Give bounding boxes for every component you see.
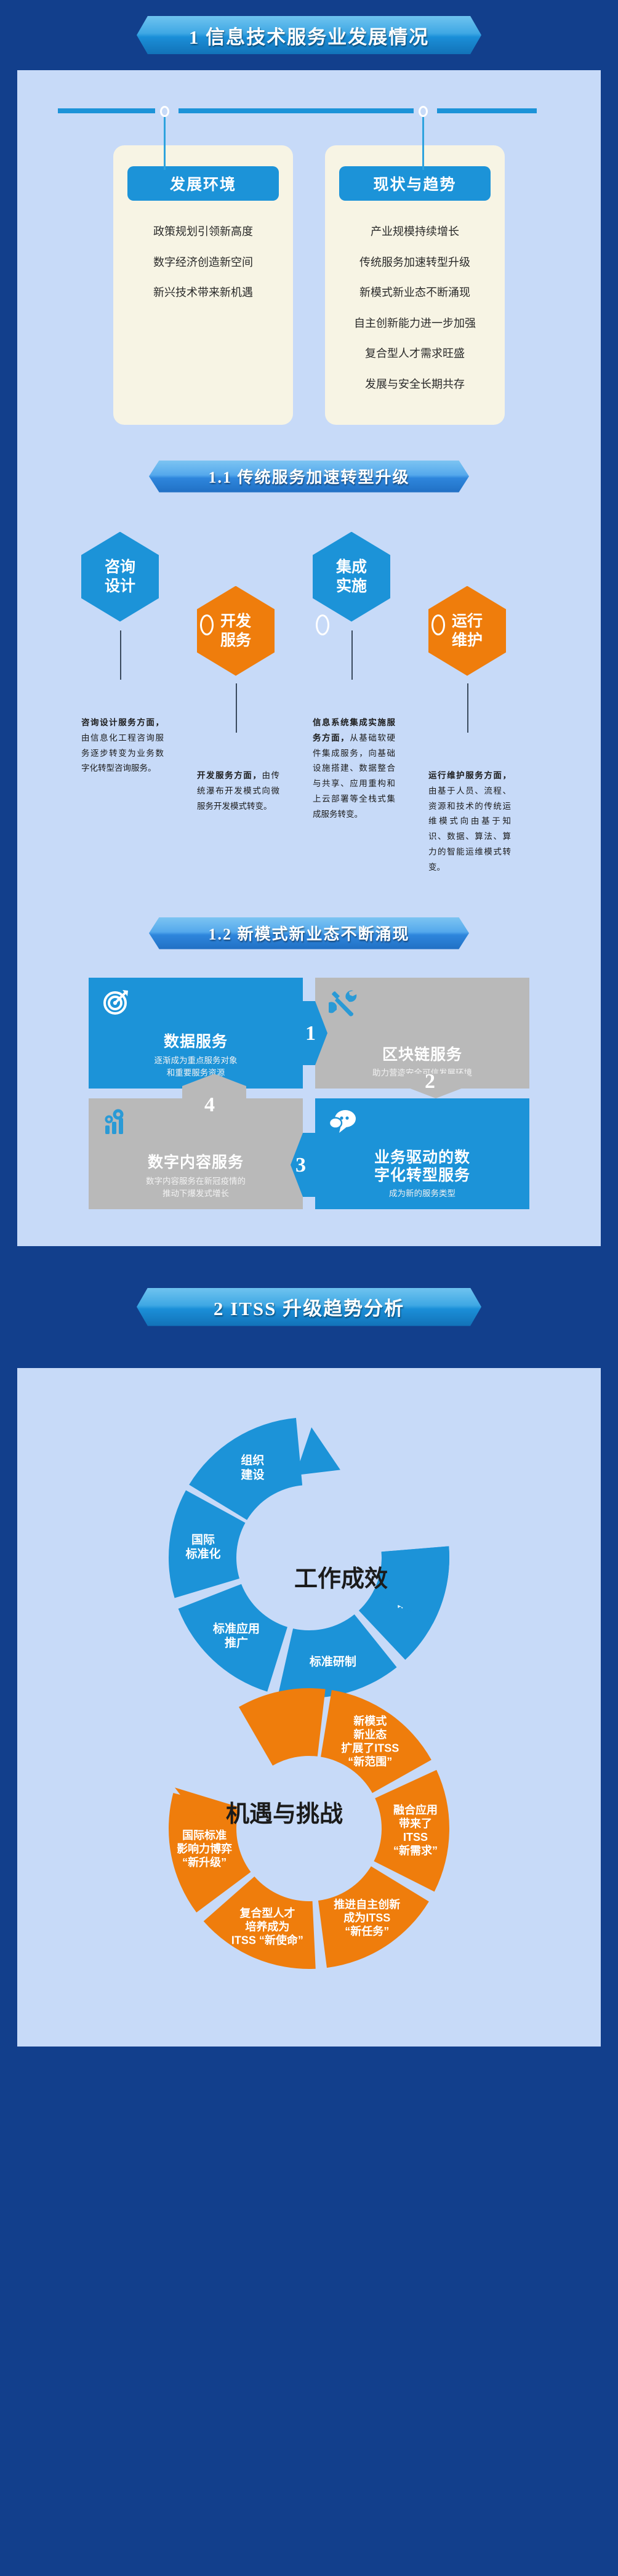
section-1-banner: 1 信息技术服务业发展情况: [137, 16, 481, 54]
svg-text:工作成效: 工作成效: [294, 1566, 388, 1592]
hexagon-connector-ring: [200, 614, 214, 635]
hexagon-line-1: 咨询: [105, 558, 135, 577]
card-item: 传统服务加速转型升级: [359, 256, 470, 270]
card-item: 复合型人才需求旺盛: [365, 347, 465, 361]
timeline-segment: [437, 108, 537, 113]
quadrant-business-driven-transformation[interactable]: 业务驱动的数字化转型服务 成为新的服务类型: [315, 1098, 529, 1209]
timeline-stem: [164, 117, 166, 170]
card-title: 现状与趋势: [339, 166, 491, 201]
section-2-banner-row: 2 ITSS 升级趋势分析: [0, 1288, 618, 1326]
card-item: 发展与安全长期共存: [365, 378, 465, 392]
chat-bubble-icon: [329, 1108, 359, 1138]
quadrant-title: 区块链服务: [382, 1046, 462, 1064]
section-1-panel: 发展环境 政策规划引领新高度 数字经济创造新空间 新兴技术带来新机遇 现状与趋势…: [17, 70, 601, 1246]
quadrant-title: 数据服务: [164, 1033, 228, 1051]
service-hexagon-row: 咨询 设计 开发 服务 集成 实施 运行 维护: [17, 526, 601, 704]
hexagon-description-row: 咨询设计服务方面，由信息化工程咨询服务逐步转变为业务数字化转型咨询服务。 开发服…: [17, 704, 601, 858]
target-icon: [102, 988, 130, 1019]
arrow-number-2: 2: [425, 1070, 435, 1093]
description-development-service: 开发服务方面，由传统瀑布开发模式向微服务开发模式转变。: [197, 768, 279, 815]
card-item: 自主创新能力进一步加强: [354, 317, 476, 331]
description-consulting-design: 咨询设计服务方面，由信息化工程咨询服务逐步转变为业务数字化转型咨询服务。: [81, 715, 164, 777]
quadrant-title: 业务驱动的数字化转型服务: [374, 1149, 470, 1185]
section-1-banner-row: 1 信息技术服务业发展情况: [0, 16, 618, 54]
section-2-panel: 组织建设国际标准化标准应用推广标准研制标准理论研究新模式新业态扩展了ITSS“新…: [17, 1368, 601, 2047]
timeline-segment: [179, 108, 414, 113]
hexagon-connector-ring: [316, 614, 329, 635]
section-2-banner-label: 2 ITSS 升级趋势分析: [214, 1293, 404, 1321]
card-item: 政策规划引领新高度: [153, 225, 253, 239]
new-formats-grid: 数据服务 逐渐成为重点服务对象和重要服务资源 区块链服务 助力营造安全可信发展环…: [89, 978, 529, 1209]
quadrant-blockchain-service[interactable]: 区块链服务 助力营造安全可信发展环境: [315, 978, 529, 1089]
section-1-banner-label: 1 信息技术服务业发展情况: [189, 22, 429, 49]
card-item: 数字经济创造新空间: [153, 256, 253, 270]
description-body: 从基础软硬件集成服务，向基础设施搭建、数据整合与共享、应用重构和上云部署等全栈式…: [313, 733, 395, 819]
s-curve-donut-chart: 组织建设国际标准化标准应用推广标准研制标准理论研究新模式新业态扩展了ITSS“新…: [69, 1398, 549, 2007]
itss-trend-diagram: 组织建设国际标准化标准应用推广标准研制标准理论研究新模式新业态扩展了ITSS“新…: [17, 1398, 601, 2007]
hexagon-connector-ring: [431, 614, 445, 635]
card-status-and-trends: 现状与趋势 产业规模持续增长 传统服务加速转型升级 新模式新业态不断涌现 自主创…: [325, 145, 505, 425]
description-lead: 运行维护服务方面，: [428, 771, 511, 780]
card-item: 产业规模持续增长: [371, 225, 459, 239]
hexagon-line-2: 服务: [220, 631, 251, 650]
description-body: 由信息化工程咨询服务逐步转变为业务数字化转型咨询服务。: [81, 733, 164, 773]
card-development-environment: 发展环境 政策规划引领新高度 数字经济创造新空间 新兴技术带来新机遇: [113, 145, 293, 425]
quadrant-subtitle: 成为新的服务类型: [389, 1188, 455, 1200]
timeline-stem: [422, 117, 424, 170]
section-2-banner: 2 ITSS 升级趋势分析: [137, 1288, 481, 1326]
timeline-segment: [58, 108, 155, 113]
description-body: 由基于人员、流程、资源和技术的传统运维模式向由基于知识、数据、算法、算力的智能运…: [428, 786, 511, 872]
card-title: 发展环境: [127, 166, 279, 201]
hexagon-consulting-design[interactable]: 咨询 设计: [81, 532, 159, 622]
arrow-number-1: 1: [305, 1022, 316, 1045]
description-integration-implementation: 信息系统集成实施服务方面，从基础软硬件集成服务，向基础设施搭建、数据整合与共享、…: [313, 715, 395, 823]
section-1-2-banner: 1.2 新模式新业态不断涌现: [149, 917, 469, 949]
section-1-1-banner-row: 1.1 传统服务加速转型升级: [17, 461, 601, 493]
hexagon-stem: [120, 630, 121, 680]
quadrant-title: 数字内容服务: [148, 1154, 244, 1172]
card-item: 新兴技术带来新机遇: [153, 286, 253, 300]
section-1-2-banner-row: 1.2 新模式新业态不断涌现: [17, 917, 601, 949]
chart-gear-icon: [102, 1108, 133, 1140]
svg-text:标准研制: 标准研制: [310, 1654, 356, 1668]
hexagon-line-1: 运行: [452, 612, 483, 631]
hexagon-stem: [351, 630, 353, 680]
timeline-node: [160, 106, 169, 117]
description-lead: 咨询设计服务方面，: [81, 718, 164, 727]
timeline-node: [419, 106, 428, 117]
section-1-1-banner: 1.1 传统服务加速转型升级: [149, 461, 469, 493]
description-lead: 开发服务方面，: [197, 771, 262, 780]
description-operations-maintenance: 运行维护服务方面，由基于人员、流程、资源和技术的传统运维模式向由基于知识、数据、…: [428, 768, 511, 876]
timeline: [58, 108, 560, 113]
hexagon-line-1: 集成: [336, 558, 367, 577]
tools-icon: [329, 988, 358, 1020]
hexagon-integration-implementation[interactable]: 集成 实施: [313, 532, 390, 622]
arrow-number-3: 3: [295, 1154, 306, 1177]
hexagon-line-1: 开发: [220, 612, 251, 631]
section-1-2-banner-label: 1.2 新模式新业态不断涌现: [208, 922, 409, 944]
hexagon-line-2: 实施: [336, 577, 367, 596]
quadrant-digital-content-service[interactable]: 数字内容服务 数字内容服务在新冠疫情的推动下爆发式增长: [89, 1098, 303, 1209]
quadrant-data-service[interactable]: 数据服务 逐渐成为重点服务对象和重要服务资源: [89, 978, 303, 1089]
arrow-number-4: 4: [204, 1093, 215, 1117]
card-item: 新模式新业态不断涌现: [359, 286, 470, 300]
arrow-connector-2: [404, 1074, 468, 1098]
hexagon-line-2: 维护: [452, 631, 483, 650]
svg-text:国际标准影响力博弈“新升级”: 国际标准影响力博弈“新升级”: [177, 1829, 232, 1869]
svg-text:机遇与挑战: 机遇与挑战: [226, 1801, 343, 1827]
overview-cards: 发展环境 政策规划引领新高度 数字经济创造新空间 新兴技术带来新机遇 现状与趋势…: [17, 145, 601, 425]
hexagon-line-2: 设计: [105, 577, 135, 596]
quadrant-subtitle: 数字内容服务在新冠疫情的推动下爆发式增长: [146, 1175, 246, 1201]
section-1-1-banner-label: 1.1 传统服务加速转型升级: [208, 465, 409, 488]
